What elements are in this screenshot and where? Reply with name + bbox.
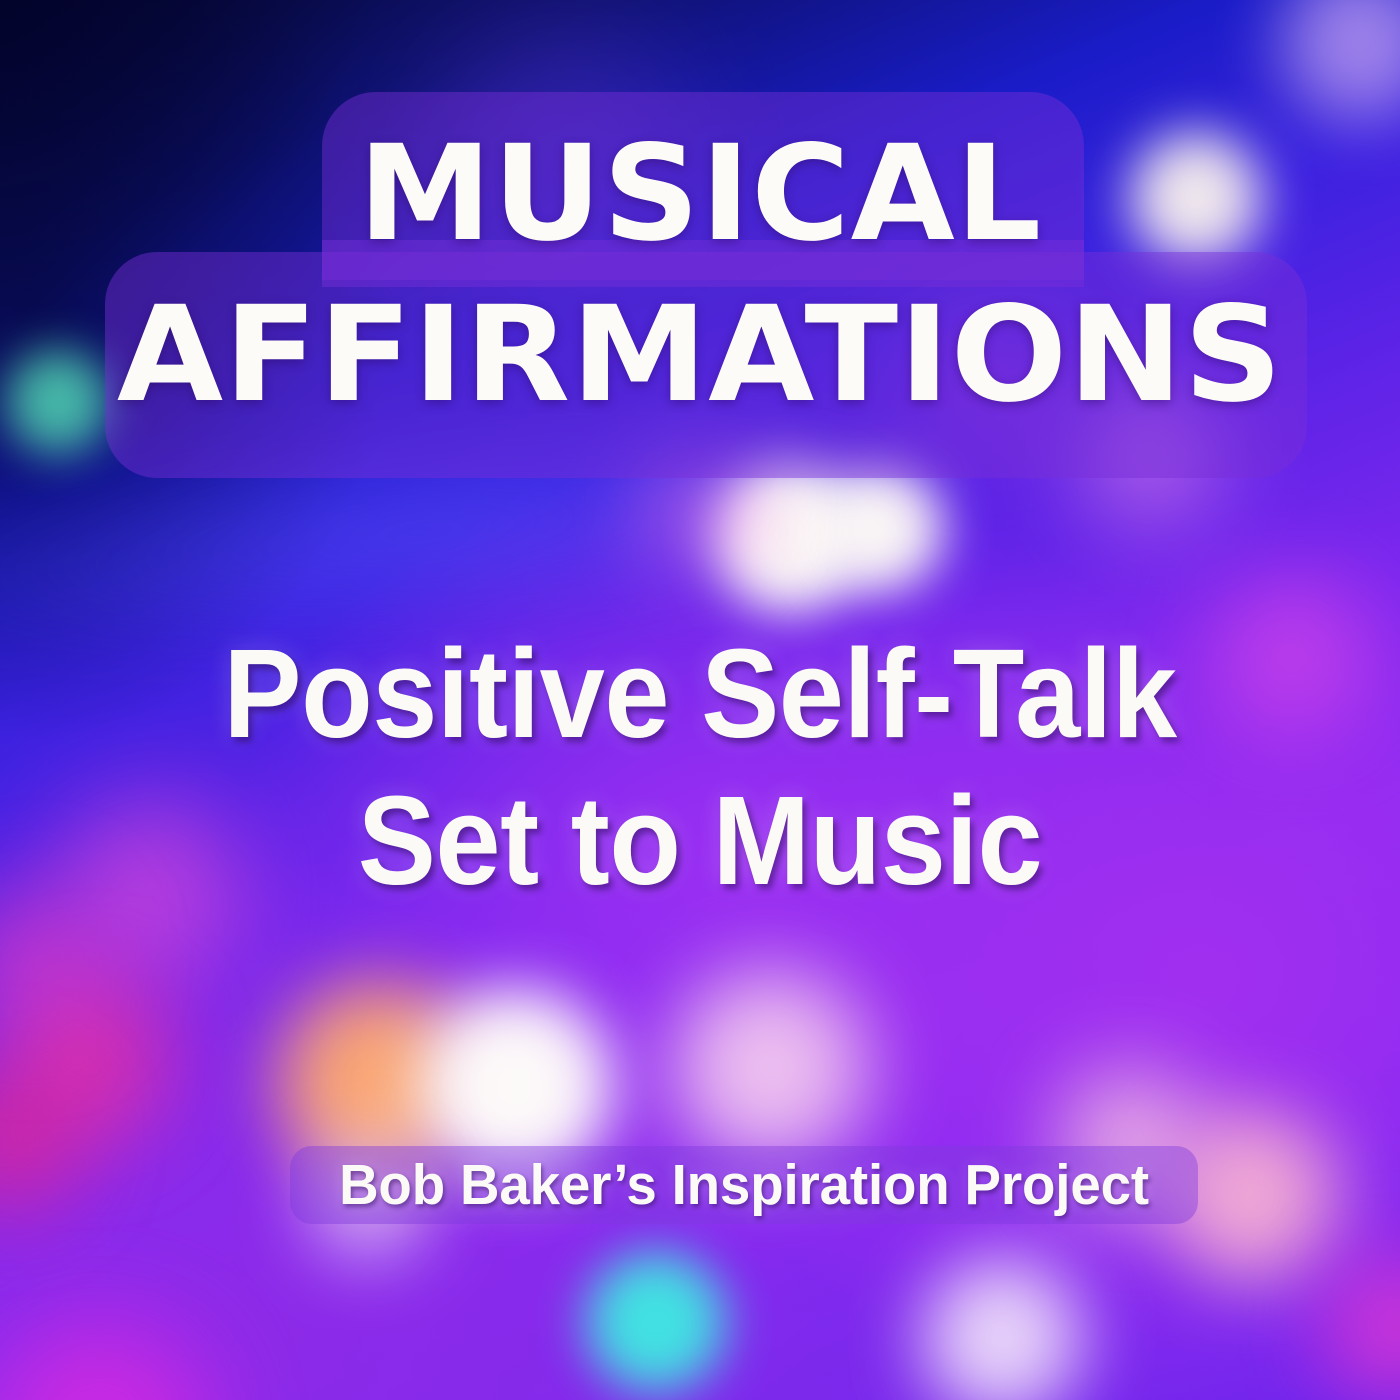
- bokeh-cyan-bottom: [586, 1252, 726, 1392]
- bokeh-magenta-lower-left: [0, 1322, 210, 1400]
- bokeh-pink-mid-right: [672, 970, 868, 1166]
- album-subtitle: Positive Self-Talk Set to Music: [0, 620, 1400, 915]
- album-cover: MUSICAL AFFIRMATIONS Positive Self-Talk …: [0, 0, 1400, 1400]
- album-subtitle-line-2: Set to Music: [49, 767, 1351, 914]
- bokeh-white-bottom: [922, 1258, 1082, 1400]
- bokeh-lilac-top-right: [1282, 0, 1400, 120]
- artist-credit: Bob Baker’s Inspiration Project: [308, 1146, 1180, 1224]
- bokeh-magenta-far-right: [1324, 1256, 1400, 1400]
- album-title-line-1: MUSICAL: [0, 128, 1400, 260]
- album-title-line-2: AFFIRMATIONS: [0, 289, 1400, 421]
- bokeh-white-center-b: [816, 464, 944, 592]
- album-subtitle-line-1: Positive Self-Talk: [49, 620, 1351, 767]
